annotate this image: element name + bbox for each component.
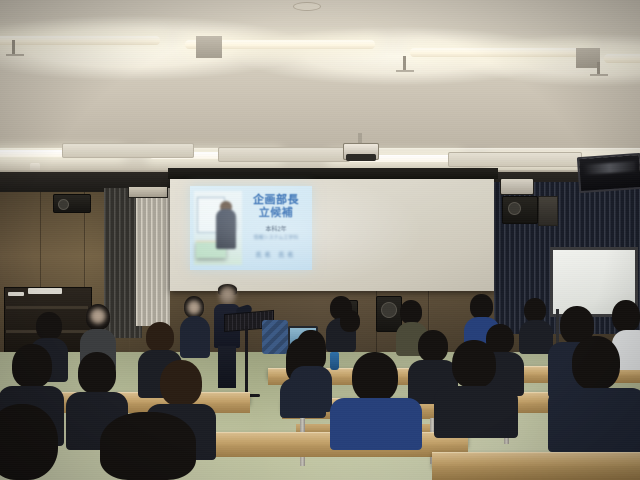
music-stand-pole — [245, 326, 248, 396]
light-fixture-housing — [218, 147, 350, 162]
person-body — [290, 366, 332, 412]
person-head — [100, 412, 196, 480]
person-head — [36, 312, 62, 340]
person-head — [418, 330, 448, 362]
light-fixture-housing — [448, 152, 582, 167]
person-body — [330, 398, 422, 450]
curtain-track — [128, 186, 168, 198]
person-head — [352, 352, 398, 402]
person-head — [400, 300, 422, 324]
desk-front — [432, 466, 640, 480]
person-head — [146, 322, 174, 352]
slide-names: 氏名 氏名 — [242, 250, 310, 259]
person-head — [340, 310, 360, 332]
presenter — [214, 286, 258, 396]
ceiling-mount-box — [196, 36, 222, 58]
light-fixture-housing — [62, 143, 194, 158]
rack-shelf — [6, 306, 88, 309]
wall-monitor[interactable] — [577, 153, 640, 193]
person-head — [572, 336, 620, 390]
wall-vent — [500, 178, 534, 195]
stage-curtain-left-light — [136, 188, 170, 326]
person-body — [519, 320, 553, 354]
ceiling-projector — [343, 143, 379, 160]
blurred-face — [187, 300, 201, 315]
bag — [262, 320, 288, 354]
rack-equipment — [28, 288, 62, 294]
wall-box — [538, 196, 558, 226]
person-head — [296, 330, 326, 370]
person-body — [548, 388, 640, 452]
slide-photo — [194, 191, 242, 265]
ceiling — [0, 0, 640, 150]
rack-equipment — [8, 292, 24, 296]
person-head — [470, 294, 493, 319]
light-hanger — [6, 54, 24, 56]
presenter-face-blurred — [219, 286, 236, 305]
person-head — [524, 298, 546, 322]
person-head — [0, 404, 58, 480]
person-head — [160, 360, 202, 406]
person-head — [612, 300, 640, 332]
auditorium-photo: 企画部長立候補 本科2年 情報システム工学科 氏名 氏名 — [0, 0, 640, 480]
person-body — [434, 386, 518, 438]
light-hanger — [590, 74, 608, 76]
wall-speaker-right — [502, 196, 538, 224]
screen-reflection — [583, 161, 636, 175]
slide-title: 企画部長立候補 — [242, 194, 310, 219]
person-head — [452, 340, 496, 388]
water-bottle — [330, 352, 339, 370]
person-head — [12, 344, 52, 388]
projected-slide: 企画部長立候補 本科2年 情報システム工学科 氏名 氏名 — [190, 186, 312, 270]
ceiling-light-fixture — [410, 48, 590, 57]
ceiling-light-fixture — [604, 54, 640, 63]
wall-speaker-left — [53, 194, 91, 213]
screen-valance — [168, 168, 498, 179]
slide-subtitle-secondary: 情報システム工学科 — [240, 235, 312, 242]
ceiling-light-fixture — [0, 36, 160, 45]
presenter-legs — [218, 346, 236, 388]
desk-row-front — [432, 452, 640, 467]
blurred-face — [90, 308, 106, 324]
light-hanger — [396, 70, 414, 72]
person-body — [180, 316, 210, 358]
person-head — [78, 352, 116, 394]
smoke-detector-icon — [293, 2, 321, 11]
slide-subtitle: 本科2年 — [242, 226, 310, 234]
